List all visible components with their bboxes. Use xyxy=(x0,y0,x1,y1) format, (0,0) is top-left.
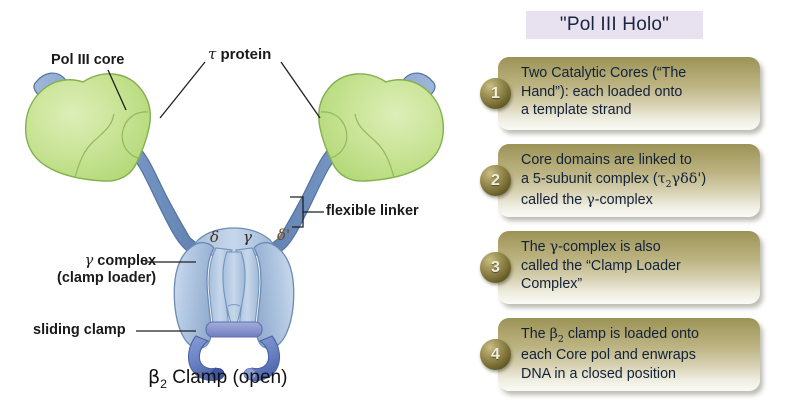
callout-4-line-3: DNA in a closed position xyxy=(521,365,749,384)
panel-title: "Pol III Holo" xyxy=(560,14,669,36)
callout-box-2[interactable]: Core domains are linked to a 5-subunit c… xyxy=(498,144,760,217)
callout-box-3[interactable]: The γ-complex is also called the “Clamp … xyxy=(498,231,760,304)
gamma-complex-clamp-loader xyxy=(174,228,294,348)
callout-1-line-2: Hand”): each loaded onto xyxy=(521,83,749,102)
callout-2-line-3: called the γ-complex xyxy=(521,191,749,210)
gamma-symbol: γ xyxy=(85,253,94,269)
callout-1-line-3: a template strand xyxy=(521,101,749,120)
annotation-panel: "Pol III Holo" Two Catalytic Cores (“The… xyxy=(470,0,790,409)
callout-4-line-1: The β2 clamp is loaded onto xyxy=(521,325,749,346)
callout-box-4[interactable]: The β2 clamp is loaded onto each Core po… xyxy=(498,318,760,391)
panel-title-banner: "Pol III Holo" xyxy=(526,11,703,39)
callout-badge-3[interactable]: 3 xyxy=(480,252,511,283)
subunit-label-delta: δ xyxy=(210,228,219,246)
callout-badge-2[interactable]: 2 xyxy=(480,165,511,196)
callout-badge-2-number: 2 xyxy=(491,173,500,189)
label-gamma-complex: γ complex(clamp loader) xyxy=(57,253,156,286)
callout-badge-4[interactable]: 4 xyxy=(480,339,511,370)
callout-3-line-2: called the “Clamp Loader xyxy=(521,257,749,276)
label-gamma-complex-text: complex xyxy=(93,253,156,269)
subunit-label-delta-prime: δ' xyxy=(277,226,290,244)
diagram-caption: β2 Clamp (open) xyxy=(148,366,287,391)
callout-box-1[interactable]: Two Catalytic Cores (“The Hand”): each l… xyxy=(498,57,760,130)
callout-3-line-3: Complex” xyxy=(521,275,749,294)
callout-badge-4-number: 4 xyxy=(491,347,500,363)
slide-root: Pol III core τ protein flexible linker γ… xyxy=(0,0,790,409)
callout-badge-1-number: 1 xyxy=(491,86,500,102)
callout-badge-1[interactable]: 1 xyxy=(480,78,511,109)
beta-subscript: 2 xyxy=(160,377,167,391)
pol3-core-right xyxy=(319,74,444,181)
pol3-core-left xyxy=(26,74,151,181)
callout-3-line-1: The γ-complex is also xyxy=(521,238,749,257)
label-pol3-core: Pol III core xyxy=(51,52,124,69)
label-clamp-loader-text: (clamp loader) xyxy=(57,270,156,286)
pol3-holoenzyme-diagram: Pol III core τ protein flexible linker γ… xyxy=(0,0,470,409)
label-sliding-clamp: sliding clamp xyxy=(33,322,126,339)
label-tau-protein: τ protein xyxy=(208,46,271,63)
callout-2-line-2: a 5-subunit complex (τ2γδδ') xyxy=(521,170,749,191)
label-tau-protein-text: protein xyxy=(216,46,271,63)
callout-4-line-2: each Core pol and enwraps xyxy=(521,346,749,365)
callout-2-line-1: Core domains are linked to xyxy=(521,151,749,170)
beta-symbol: β xyxy=(148,366,160,388)
callout-badge-3-number: 3 xyxy=(491,260,500,276)
connector-bar xyxy=(206,322,262,337)
callout-1-line-1: Two Catalytic Cores (“The xyxy=(521,64,749,83)
label-flexible-linker: flexible linker xyxy=(326,203,419,220)
subunit-label-gamma: γ xyxy=(243,228,252,246)
caption-rest: Clamp (open) xyxy=(167,367,287,388)
